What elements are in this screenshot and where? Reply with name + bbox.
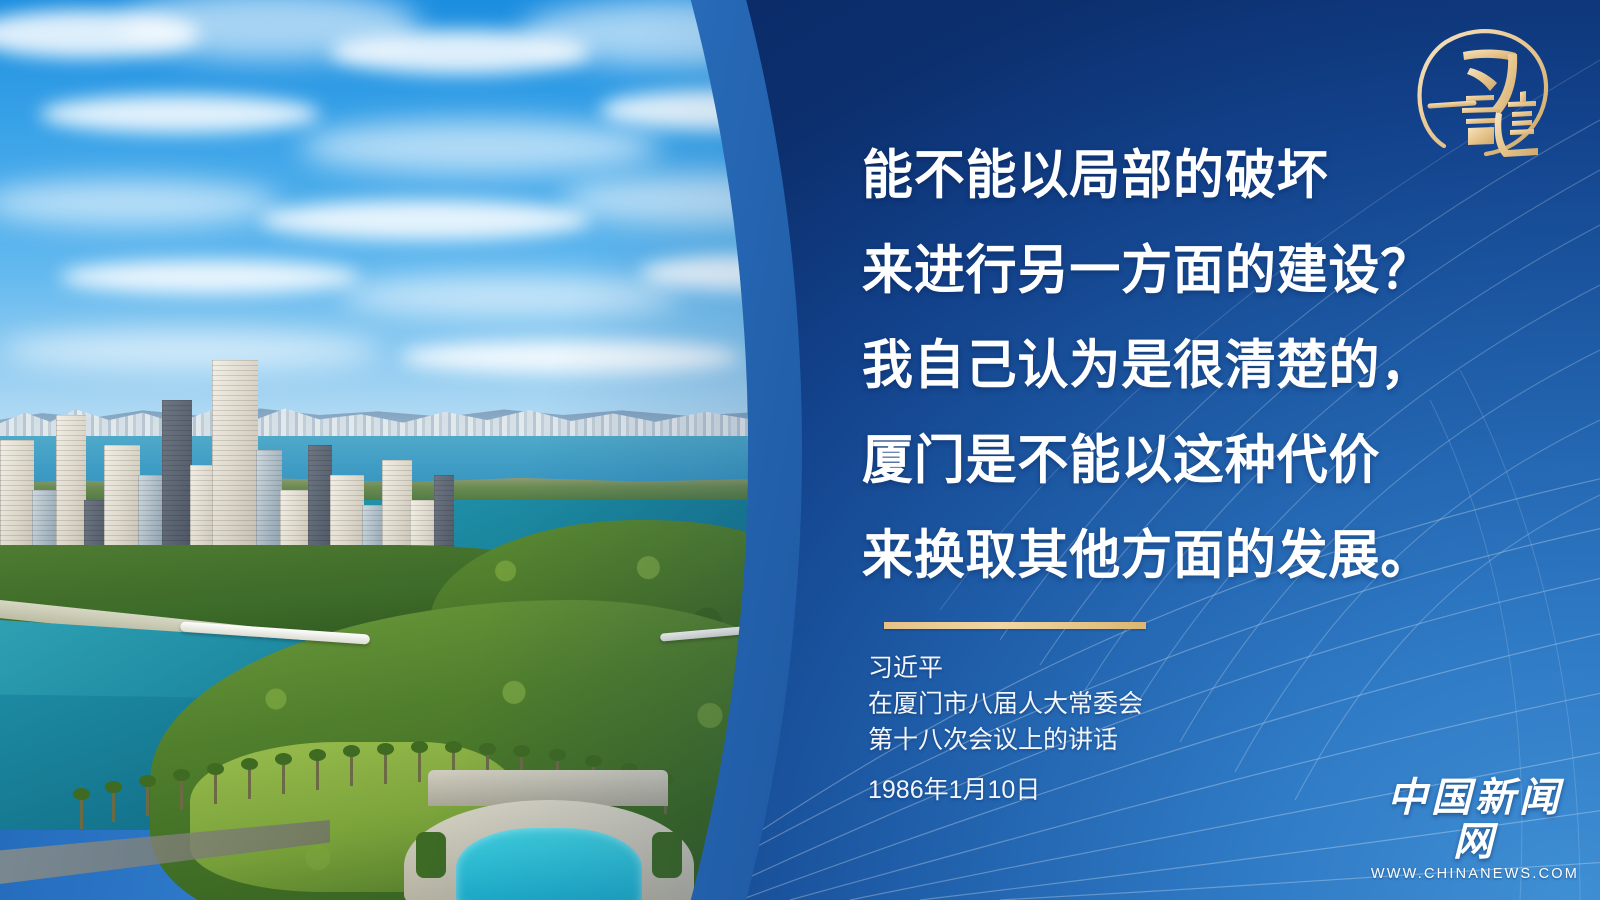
photo-edge-shading — [0, 0, 840, 900]
attribution-date: 1986年1月10日 — [868, 772, 1388, 808]
poster-root: 能不能以局部的破坏 来进行另一方面的建设？ 我自己认为是很清楚的， 厦门是不能以… — [0, 0, 1600, 900]
quote-block: 能不能以局部的破坏 来进行另一方面的建设？ 我自己认为是很清楚的， 厦门是不能以… — [862, 128, 1422, 603]
attribution-occasion-line-1: 在厦门市八届人大常委会 — [868, 686, 1388, 722]
quote-line-5: 来换取其他方面的发展。 — [862, 508, 1400, 603]
quote-line-1: 能不能以局部的破坏 — [862, 128, 1400, 223]
chinanews-logo-name: 中国新闻网 — [1368, 776, 1582, 864]
hero-photo-xiamen — [0, 0, 840, 900]
attribution-block: 习近平 在厦门市八届人大常委会 第十八次会议上的讲话 1986年1月10日 — [868, 650, 1388, 808]
chinanews-logo-url: WWW.CHINANEWS.COM — [1368, 866, 1582, 882]
attribution-occasion-line-2: 第十八次会议上的讲话 — [868, 722, 1388, 758]
xi-yan-dao-seal-logo — [1404, 18, 1554, 168]
chinanews-logo[interactable]: 中国新闻网 WWW.CHINANEWS.COM — [1368, 776, 1582, 850]
hero-photo-clip — [0, 0, 840, 900]
quote-line-3: 我自己认为是很清楚的， — [862, 318, 1400, 413]
quote-line-2: 来进行另一方面的建设？ — [862, 223, 1400, 318]
gold-divider — [884, 622, 1146, 629]
seal-stroke-yi — [1430, 103, 1474, 106]
quote-line-4: 厦门是不能以这种代价 — [862, 413, 1400, 508]
attribution-speaker: 习近平 — [868, 650, 1388, 686]
